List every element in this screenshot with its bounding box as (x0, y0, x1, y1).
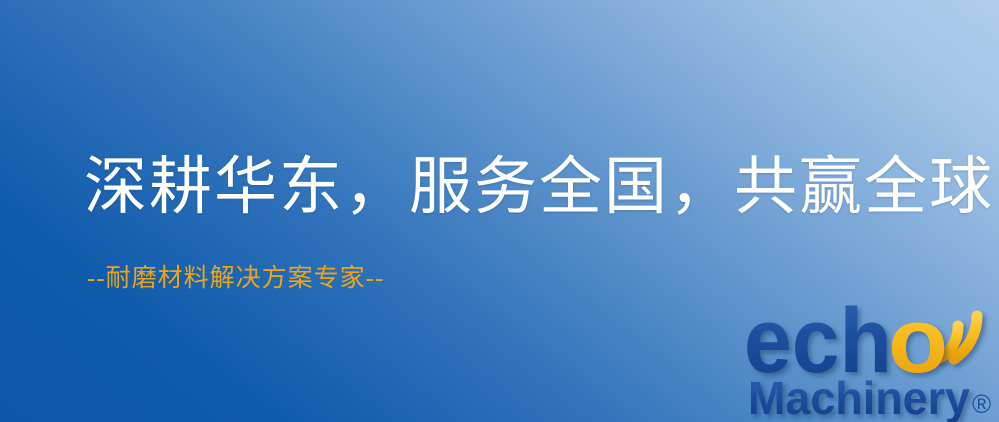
registered-trademark-icon: ® (972, 389, 991, 419)
echo-machinery-logo-graphic: ech o Machinery ® (744, 296, 999, 422)
page-title: 深耕华东，服务全国，共赢全球 (84, 156, 994, 219)
company-logo[interactable]: ech o Machinery ® (744, 296, 999, 422)
logo-wordmark-machinery: Machinery (748, 372, 970, 422)
banner-subtitle: --耐磨材料解决方案专家-- (87, 266, 384, 291)
hero-banner: 深耕华东，服务全国，共赢全球 --耐磨材料解决方案专家-- (0, 0, 999, 422)
